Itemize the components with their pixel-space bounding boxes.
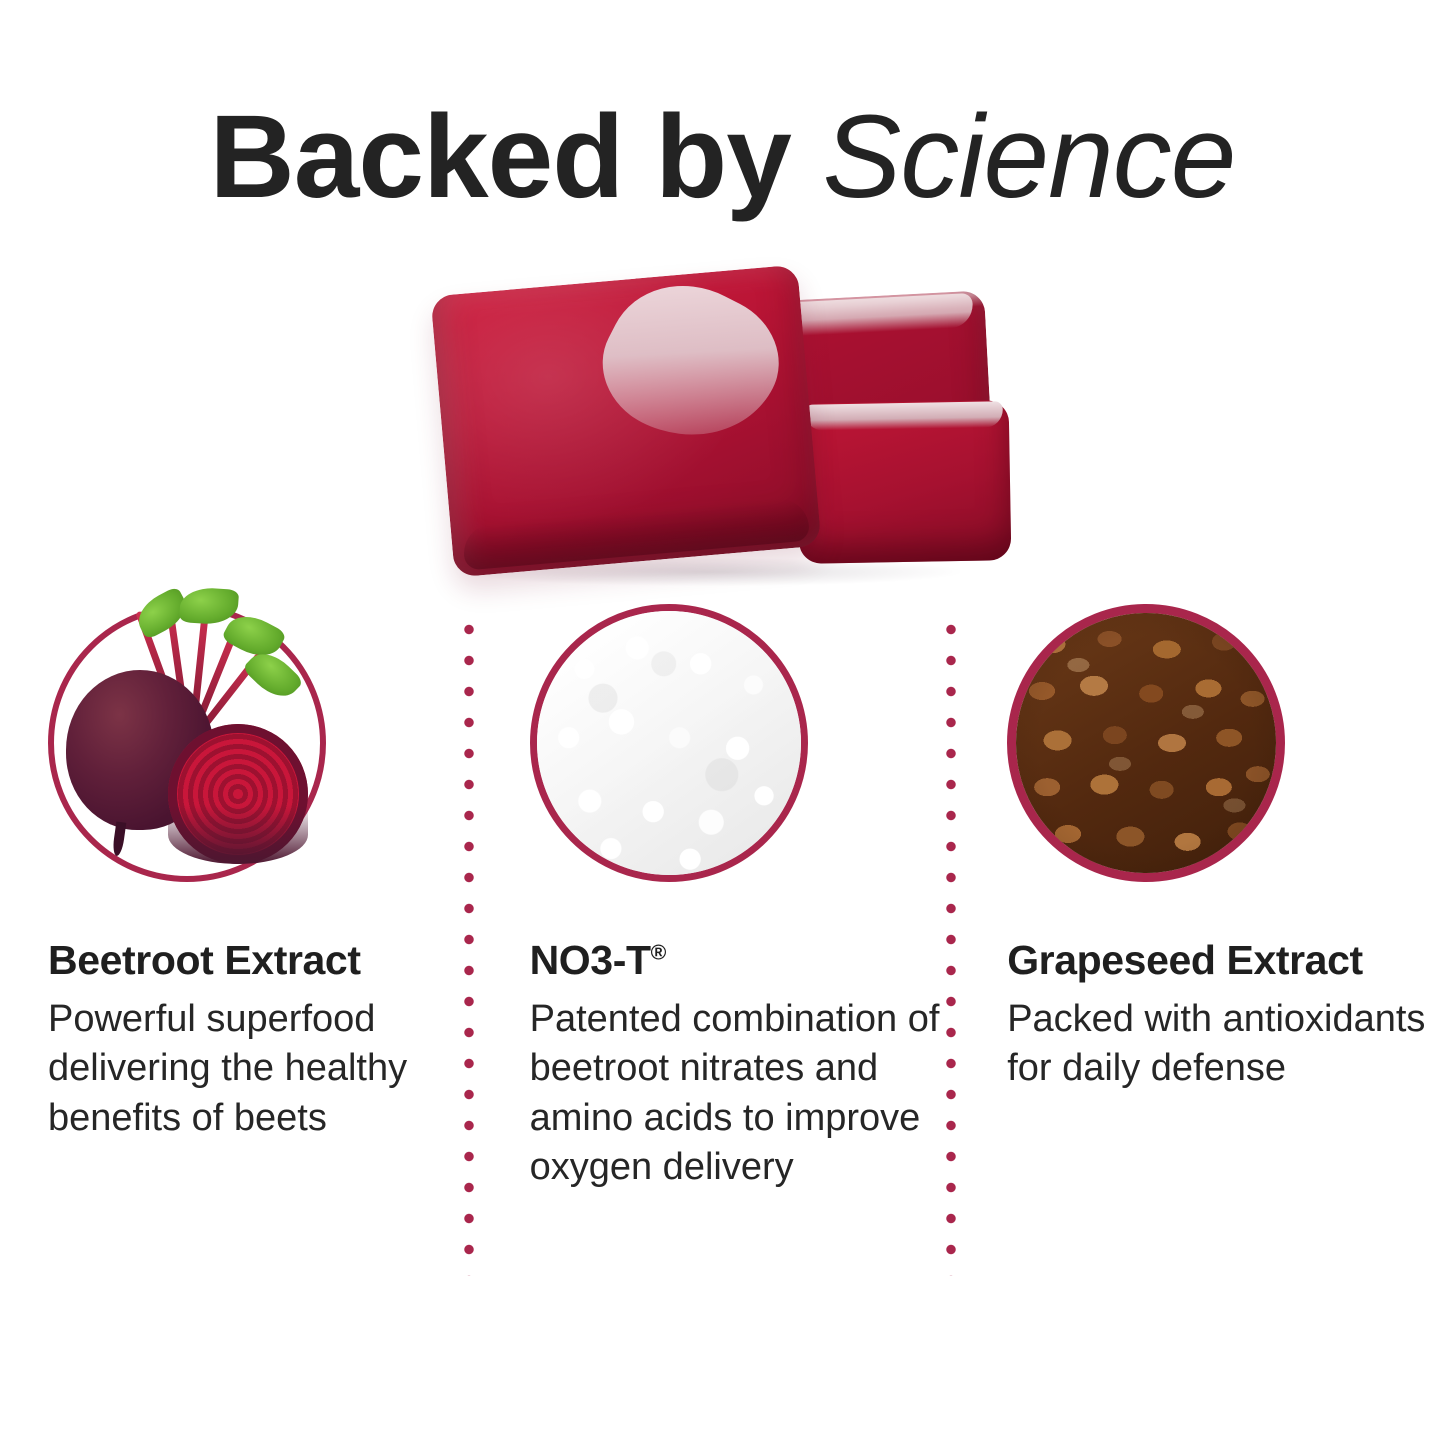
ingredient-heading: Beetroot Extract	[48, 938, 468, 983]
ingredient-text-beetroot: Beetroot Extract Powerful superfood deli…	[48, 938, 468, 1143]
ingredient-description: Patented combination of beetroot nitrate…	[530, 995, 950, 1193]
ingredient-column-no3t: NO3-T® Patented combination of beetroot …	[482, 604, 964, 1304]
ingredient-description: Packed with antioxidants for daily defen…	[1007, 995, 1445, 1094]
white-granules-icon	[530, 604, 808, 882]
beet-leaf	[179, 586, 239, 626]
ingredient-heading-label: NO3-T	[530, 937, 651, 983]
registered-mark: ®	[651, 940, 666, 964]
beetroot-icon	[48, 604, 326, 882]
grapeseed-illustration	[1016, 613, 1276, 873]
beet-chew-front	[430, 264, 821, 577]
grapeseed-icon	[1007, 604, 1285, 882]
hero-product-image	[420, 262, 1000, 592]
ingredient-text-no3t: NO3-T® Patented combination of beetroot …	[530, 938, 950, 1193]
beet-chew-back-lower	[797, 400, 1012, 564]
title-bold-part: Backed by	[210, 91, 823, 223]
ingredient-column-grapeseed: Grapeseed Extract Packed with antioxidan…	[963, 604, 1445, 1304]
ingredient-columns: Beetroot Extract Powerful superfood deli…	[0, 604, 1445, 1304]
page-title-text: Backed by Science	[0, 98, 1445, 216]
ingredient-description: Powerful superfood delivering the health…	[48, 995, 468, 1143]
ingredient-heading-label: Beetroot Extract	[48, 937, 361, 983]
ingredient-column-beetroot: Beetroot Extract Powerful superfood deli…	[0, 604, 482, 1304]
granules-illustration	[537, 611, 801, 875]
ingredient-heading-label: Grapeseed Extract	[1007, 937, 1363, 983]
title-italic-part: Science	[823, 91, 1236, 223]
ingredient-text-grapeseed: Grapeseed Extract Packed with antioxidan…	[1007, 938, 1445, 1094]
beetroot-illustration	[40, 596, 334, 890]
infographic-page: Backed by Science	[0, 0, 1445, 1445]
ingredient-heading: Grapeseed Extract	[1007, 938, 1445, 983]
page-title: Backed by Science	[0, 98, 1445, 216]
ingredient-heading: NO3-T®	[530, 938, 950, 983]
beet-sliced-half	[168, 724, 308, 864]
